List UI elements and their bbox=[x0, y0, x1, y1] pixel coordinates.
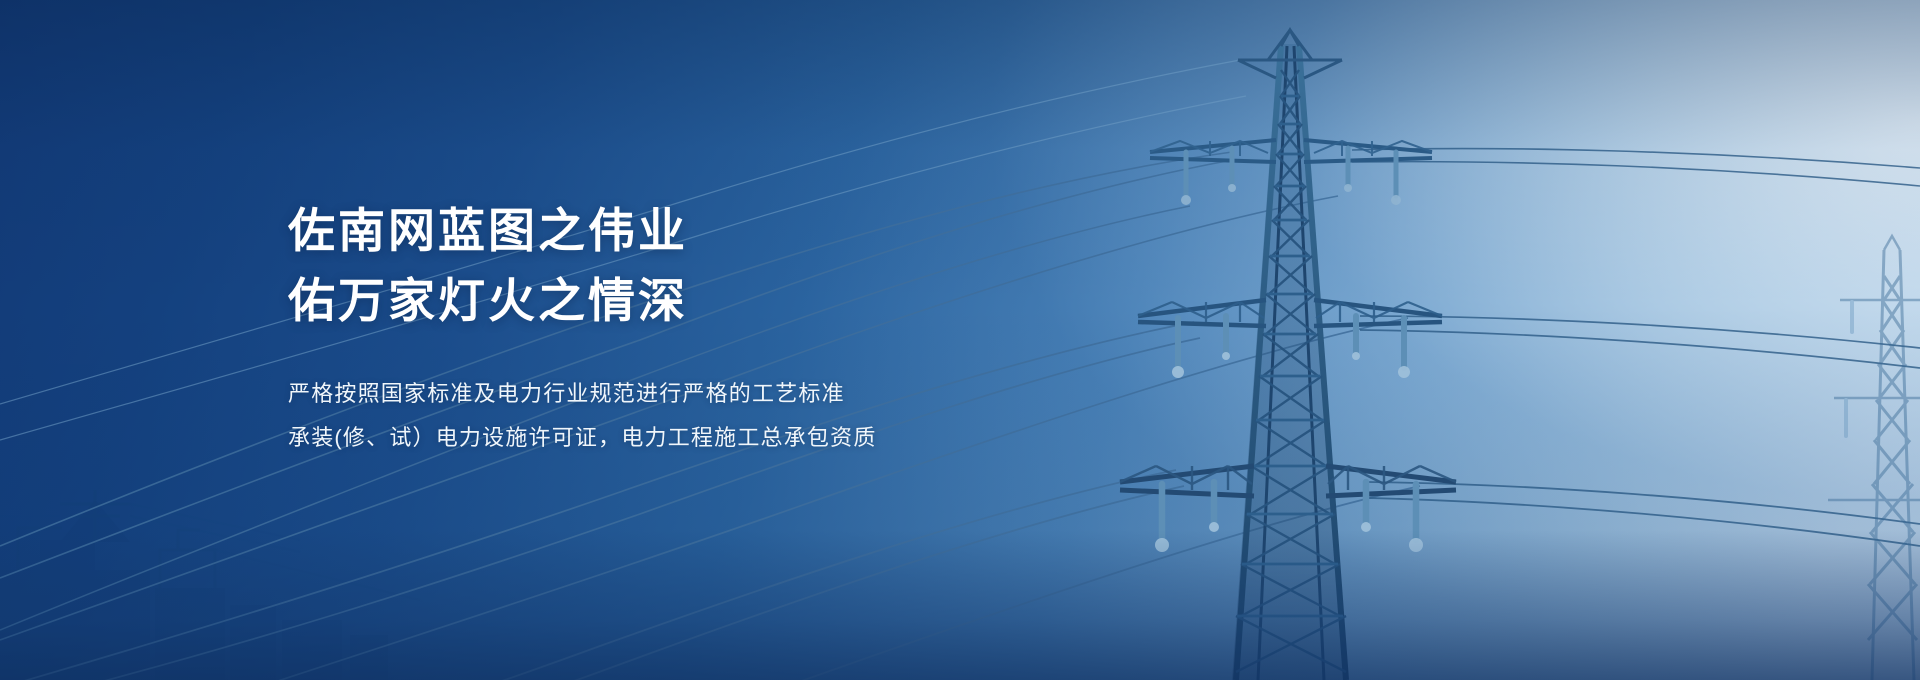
subtitle-block: 严格按照国家标准及电力行业规范进行严格的工艺标准 承装(修、试）电力设施许可证，… bbox=[288, 372, 1048, 460]
headline-line-1: 佐南网蓝图之伟业 bbox=[288, 196, 1048, 266]
subtitle-line-2: 承装(修、试）电力设施许可证，电力工程施工总承包资质 bbox=[288, 416, 1048, 460]
pylon-distant bbox=[1828, 236, 1920, 680]
subtitle-line-1: 严格按照国家标准及电力行业规范进行严格的工艺标准 bbox=[288, 372, 1048, 416]
hero-banner: 佐南网蓝图之伟业 佑万家灯火之情深 严格按照国家标准及电力行业规范进行严格的工艺… bbox=[0, 0, 1920, 680]
pylon-main bbox=[1120, 30, 1456, 680]
headline-line-2: 佑万家灯火之情深 bbox=[288, 266, 1048, 336]
banner-copy-block: 佐南网蓝图之伟业 佑万家灯火之情深 严格按照国家标准及电力行业规范进行严格的工艺… bbox=[288, 196, 1048, 460]
